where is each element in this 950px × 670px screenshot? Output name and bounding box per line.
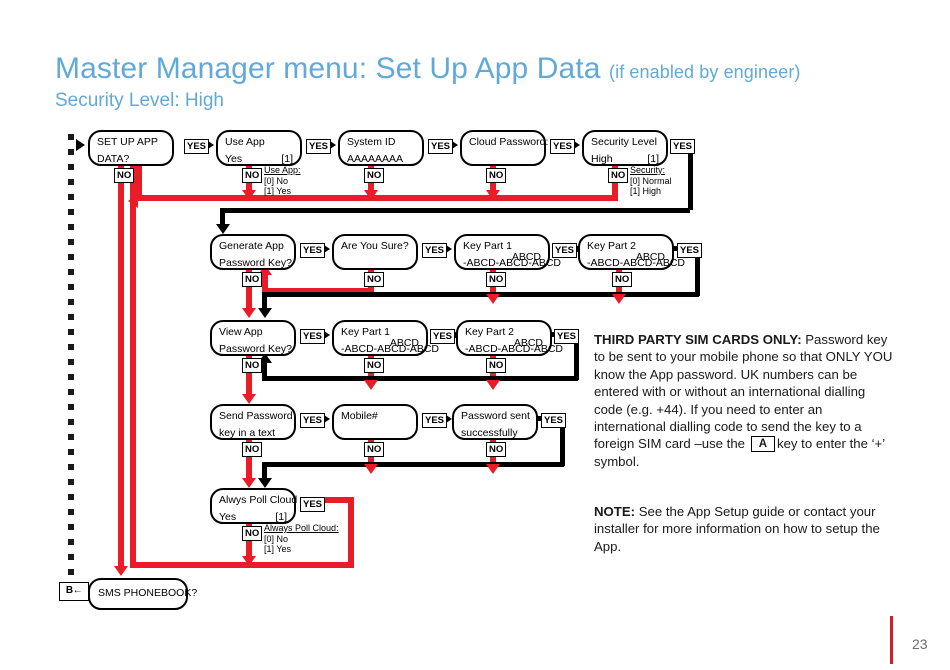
arrow-down-icon <box>114 566 128 576</box>
no-tag-generate-app-password-key[interactable]: NO <box>242 272 262 287</box>
connector-no-are-you-sure-up <box>262 274 268 290</box>
node-line1: Key Part 1ABCD <box>341 327 419 338</box>
page-number: 23 <box>912 636 928 652</box>
node-view-app-password-key[interactable]: View App Password Key? <box>210 320 296 356</box>
note-lead: NOTE: <box>594 504 635 519</box>
yes-tag-view-key-part-1[interactable]: YES <box>430 329 455 344</box>
node-line2: Password Key? <box>219 258 287 269</box>
no-tag-mobile-number[interactable]: NO <box>364 442 384 457</box>
no-tag-view-key-part-1[interactable]: NO <box>364 358 384 373</box>
yes-tag-generate-app-password-key[interactable]: YES <box>300 243 325 258</box>
node-send-password-key[interactable]: Send Password key in a text <box>210 404 296 440</box>
arrow-down-icon <box>486 190 500 200</box>
yes-tag-set-up-app-data[interactable]: YES <box>184 139 209 154</box>
node-always-poll-cloud[interactable]: Alwys Poll Cloud Yes[1] <box>210 488 296 524</box>
yes-tag-gen-key-part-2[interactable]: YES <box>677 243 702 258</box>
connector-yes-row1-left <box>220 208 690 213</box>
node-line2: High[1] <box>591 154 659 165</box>
node-line2: Yes[1] <box>219 512 287 523</box>
connector-yes-row3-up <box>262 362 267 380</box>
arrow-down-icon <box>486 380 500 390</box>
node-generate-app-password-key[interactable]: Generate App Password Key? <box>210 234 296 270</box>
connector-yes-row2-left <box>262 292 699 297</box>
no-tag-password-sent-successfully[interactable]: NO <box>486 442 506 457</box>
note-body: See the App Setup guide or contact your … <box>594 504 880 554</box>
a-key[interactable]: A <box>751 436 775 452</box>
node-line2: -ABCD-ABCD-ABCD <box>587 258 665 269</box>
connector-yes-row3-left <box>262 376 578 381</box>
options-item: [0] No <box>264 176 288 186</box>
arrow-down-icon <box>364 380 378 390</box>
connector-yes-poll-down <box>348 497 354 568</box>
node-mobile-number[interactable]: Mobile# <box>332 404 418 440</box>
node-gen-key-part-2[interactable]: Key Part 2ABCD -ABCD-ABCD-ABCD <box>578 234 674 270</box>
page-root: Master Manager menu: Set Up App Data (if… <box>0 0 950 670</box>
node-view-key-part-2[interactable]: Key Part 2ABCD -ABCD-ABCD-ABCD <box>456 320 552 356</box>
connector-no-set-up-app-data <box>118 166 124 568</box>
rail-entry-arrow-icon <box>76 139 85 151</box>
no-tag-set-up-app-data[interactable]: NO <box>114 168 134 183</box>
yes-tag-gen-key-part-1[interactable]: YES <box>552 243 577 258</box>
no-tag-use-app[interactable]: NO <box>242 168 262 183</box>
no-tag-security-level[interactable]: NO <box>608 168 628 183</box>
node-gen-key-part-1[interactable]: Key Part 1ABCD -ABCD-ABCD-ABCD <box>454 234 550 270</box>
footer-accent-bar <box>890 616 893 664</box>
yes-tag-send-password-key[interactable]: YES <box>300 413 325 428</box>
options-item: [0] Normal <box>630 176 672 186</box>
no-tag-are-you-sure[interactable]: NO <box>364 272 384 287</box>
node-line1: Key Part 2ABCD <box>587 241 665 252</box>
node-line1: SMS PHONEBOOK? <box>98 588 197 599</box>
arrow-down-icon <box>364 190 378 200</box>
node-line2: successfully <box>461 428 529 439</box>
yes-tag-system-id[interactable]: YES <box>428 139 453 154</box>
connector-yes-poll-up <box>130 165 136 565</box>
node-cloud-password[interactable]: Cloud Password: <box>460 130 546 166</box>
back-key[interactable]: B← <box>59 582 89 601</box>
options-heading: Security: <box>630 165 665 175</box>
yes-tag-view-key-part-2[interactable]: YES <box>554 329 579 344</box>
yes-tag-use-app[interactable]: YES <box>306 139 331 154</box>
arrow-down-icon <box>258 478 272 488</box>
node-line2: AAAAAAAA <box>347 154 415 165</box>
options-always-poll-cloud: Always Poll Cloud: [0] No [1] Yes <box>264 523 339 555</box>
node-line2: Yes[1] <box>225 154 293 165</box>
node-line2: Password Key? <box>219 344 287 355</box>
node-sms-phonebook[interactable]: SMS PHONEBOOK? <box>88 578 188 610</box>
node-line1: System ID <box>347 137 415 148</box>
arrow-down-icon <box>364 464 378 474</box>
node-view-key-part-1[interactable]: Key Part 1ABCD -ABCD-ABCD-ABCD <box>332 320 428 356</box>
node-line1: SET UP APP <box>97 137 165 148</box>
arrow-down-icon <box>242 556 256 566</box>
arrow-down-icon <box>242 308 256 318</box>
node-value: [1] <box>281 154 293 165</box>
arrow-left-icon <box>128 194 138 208</box>
no-tag-gen-key-part-2[interactable]: NO <box>612 272 632 287</box>
no-tag-cloud-password[interactable]: NO <box>486 168 506 183</box>
yes-tag-mobile-number[interactable]: YES <box>422 413 447 428</box>
page-title-main: Master Manager menu: Set Up App Data <box>55 52 601 85</box>
no-tag-view-app-password-key[interactable]: NO <box>242 358 262 373</box>
node-are-you-sure[interactable]: Are You Sure? <box>332 234 418 270</box>
note-third-party-lead: THIRD PARTY SIM CARDS ONLY: <box>594 332 802 347</box>
arrow-down-icon <box>258 308 272 318</box>
node-line2: key in a text <box>219 428 287 439</box>
node-line2: DATA? <box>97 154 165 165</box>
node-line1: Mobile# <box>341 411 409 422</box>
options-heading: Always Poll Cloud: <box>264 523 339 533</box>
arrow-down-icon <box>612 294 626 304</box>
options-heading: Use App: <box>264 165 301 175</box>
options-security: Security: [0] Normal [1] High <box>630 165 672 197</box>
page-title: Master Manager menu: Set Up App Data (if… <box>55 52 801 86</box>
yes-tag-cloud-password[interactable]: YES <box>550 139 575 154</box>
options-item: [0] No <box>264 534 288 544</box>
note-third-party-sim: THIRD PARTY SIM CARDS ONLY: Password key… <box>594 331 894 470</box>
node-line1: Are You Sure? <box>341 241 409 252</box>
yes-tag-are-you-sure[interactable]: YES <box>422 243 447 258</box>
node-line1: Generate App <box>219 241 287 252</box>
node-password-sent-successfully[interactable]: Password sent successfully <box>452 404 538 440</box>
arrow-down-icon <box>242 190 256 200</box>
note-third-party-body-a: Password key to be sent to your mobile p… <box>594 332 892 451</box>
node-line1: Alwys Poll Cloud <box>219 495 287 506</box>
options-use-app: Use App: [0] No [1] Yes <box>264 165 301 197</box>
node-line1: View App <box>219 327 287 338</box>
node-value: [1] <box>647 154 659 165</box>
node-line2: -ABCD-ABCD-ABCD <box>341 344 419 355</box>
node-line2: -ABCD-ABCD-ABCD <box>465 344 543 355</box>
node-line1: Send Password <box>219 411 287 422</box>
node-set-up-app-data[interactable]: SET UP APP DATA? <box>88 130 174 166</box>
arrow-down-icon <box>242 478 256 488</box>
node-security-level[interactable]: Security Level High[1] <box>582 130 668 166</box>
yes-tag-security-level[interactable]: YES <box>670 139 695 154</box>
node-line1: Password sent <box>461 411 529 422</box>
node-line2: -ABCD-ABCD-ABCD <box>463 258 541 269</box>
page-subtitle: Security Level: High <box>55 90 224 112</box>
yes-tag-always-poll-cloud[interactable]: YES <box>300 497 325 512</box>
page-title-note: (if enabled by engineer) <box>609 62 801 82</box>
node-line1: Key Part 1ABCD <box>463 241 541 252</box>
no-tag-view-key-part-2[interactable]: NO <box>486 358 506 373</box>
node-line1: Security Level <box>591 137 659 148</box>
no-tag-always-poll-cloud[interactable]: NO <box>242 526 262 541</box>
options-item: [1] High <box>630 186 661 196</box>
options-item: [1] Yes <box>264 544 291 554</box>
arrow-down-icon <box>486 294 500 304</box>
arrow-down-icon <box>242 394 256 404</box>
node-line1: Cloud Password: <box>469 137 537 148</box>
dotted-rail <box>68 134 74 586</box>
yes-tag-password-sent-successfully[interactable]: YES <box>541 413 566 428</box>
node-use-app[interactable]: Use App Yes[1] <box>216 130 302 166</box>
yes-tag-view-app-password-key[interactable]: YES <box>300 329 325 344</box>
node-line1: Use App <box>225 137 293 148</box>
no-tag-gen-key-part-1[interactable]: NO <box>486 272 506 287</box>
arrow-down-icon <box>486 464 500 474</box>
node-value: [1] <box>275 512 287 523</box>
options-item: [1] Yes <box>264 186 291 196</box>
note-setup-guide: NOTE: See the App Setup guide or contact… <box>594 503 894 555</box>
node-line1: Key Part 2ABCD <box>465 327 543 338</box>
connector-yes-row4-left <box>262 462 564 467</box>
no-tag-send-password-key[interactable]: NO <box>242 442 262 457</box>
no-tag-system-id[interactable]: NO <box>364 168 384 183</box>
node-system-id[interactable]: System ID AAAAAAAA <box>338 130 424 166</box>
arrow-down-icon <box>216 224 230 234</box>
